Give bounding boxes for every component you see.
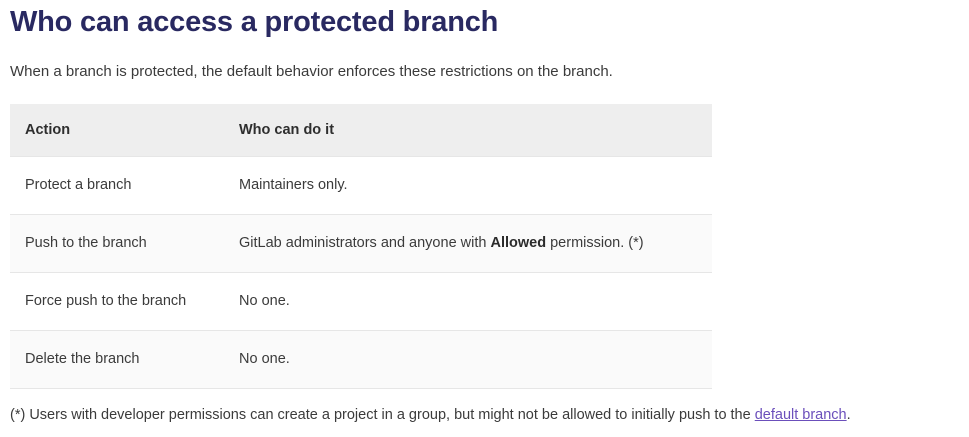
table-header: Action Who can do it bbox=[10, 104, 712, 157]
column-header-action: Action bbox=[10, 104, 224, 157]
cell-who-text-before: No one. bbox=[239, 351, 290, 367]
cell-action: Delete the branch bbox=[10, 331, 224, 389]
table-body: Protect a branch Maintainers only. Push … bbox=[10, 157, 712, 389]
table-row: Push to the branch GitLab administrators… bbox=[10, 215, 712, 273]
table-header-row: Action Who can do it bbox=[10, 104, 712, 157]
cell-who-text-before: GitLab administrators and anyone with bbox=[239, 235, 490, 251]
column-header-who: Who can do it bbox=[224, 104, 712, 157]
footnote: (*) Users with developer permissions can… bbox=[10, 405, 851, 425]
cell-who-text-after: permission. (*) bbox=[546, 235, 644, 251]
table-row: Delete the branch No one. bbox=[10, 331, 712, 389]
documentation-page: Who can access a protected branch When a… bbox=[0, 0, 969, 437]
page-title: Who can access a protected branch bbox=[10, 0, 959, 40]
cell-action: Protect a branch bbox=[10, 157, 224, 215]
table-row: Force push to the branch No one. bbox=[10, 273, 712, 331]
table-row: Protect a branch Maintainers only. bbox=[10, 157, 712, 215]
cell-action: Force push to the branch bbox=[10, 273, 224, 331]
protected-branch-access-table: Action Who can do it Protect a branch Ma… bbox=[10, 104, 712, 389]
cell-who-text-bold: Allowed bbox=[490, 235, 546, 251]
cell-who: No one. bbox=[224, 273, 712, 331]
default-branch-link[interactable]: default branch bbox=[755, 407, 847, 423]
cell-who: No one. bbox=[224, 331, 712, 389]
cell-who: GitLab administrators and anyone with Al… bbox=[224, 215, 712, 273]
cell-who: Maintainers only. bbox=[224, 157, 712, 215]
intro-paragraph: When a branch is protected, the default … bbox=[10, 40, 959, 82]
cell-who-text-before: No one. bbox=[239, 293, 290, 309]
cell-who-text-before: Maintainers only. bbox=[239, 177, 348, 193]
footnote-text-after: . bbox=[847, 407, 851, 423]
cell-action: Push to the branch bbox=[10, 215, 224, 273]
footnote-text-before: (*) Users with developer permissions can… bbox=[10, 407, 755, 423]
